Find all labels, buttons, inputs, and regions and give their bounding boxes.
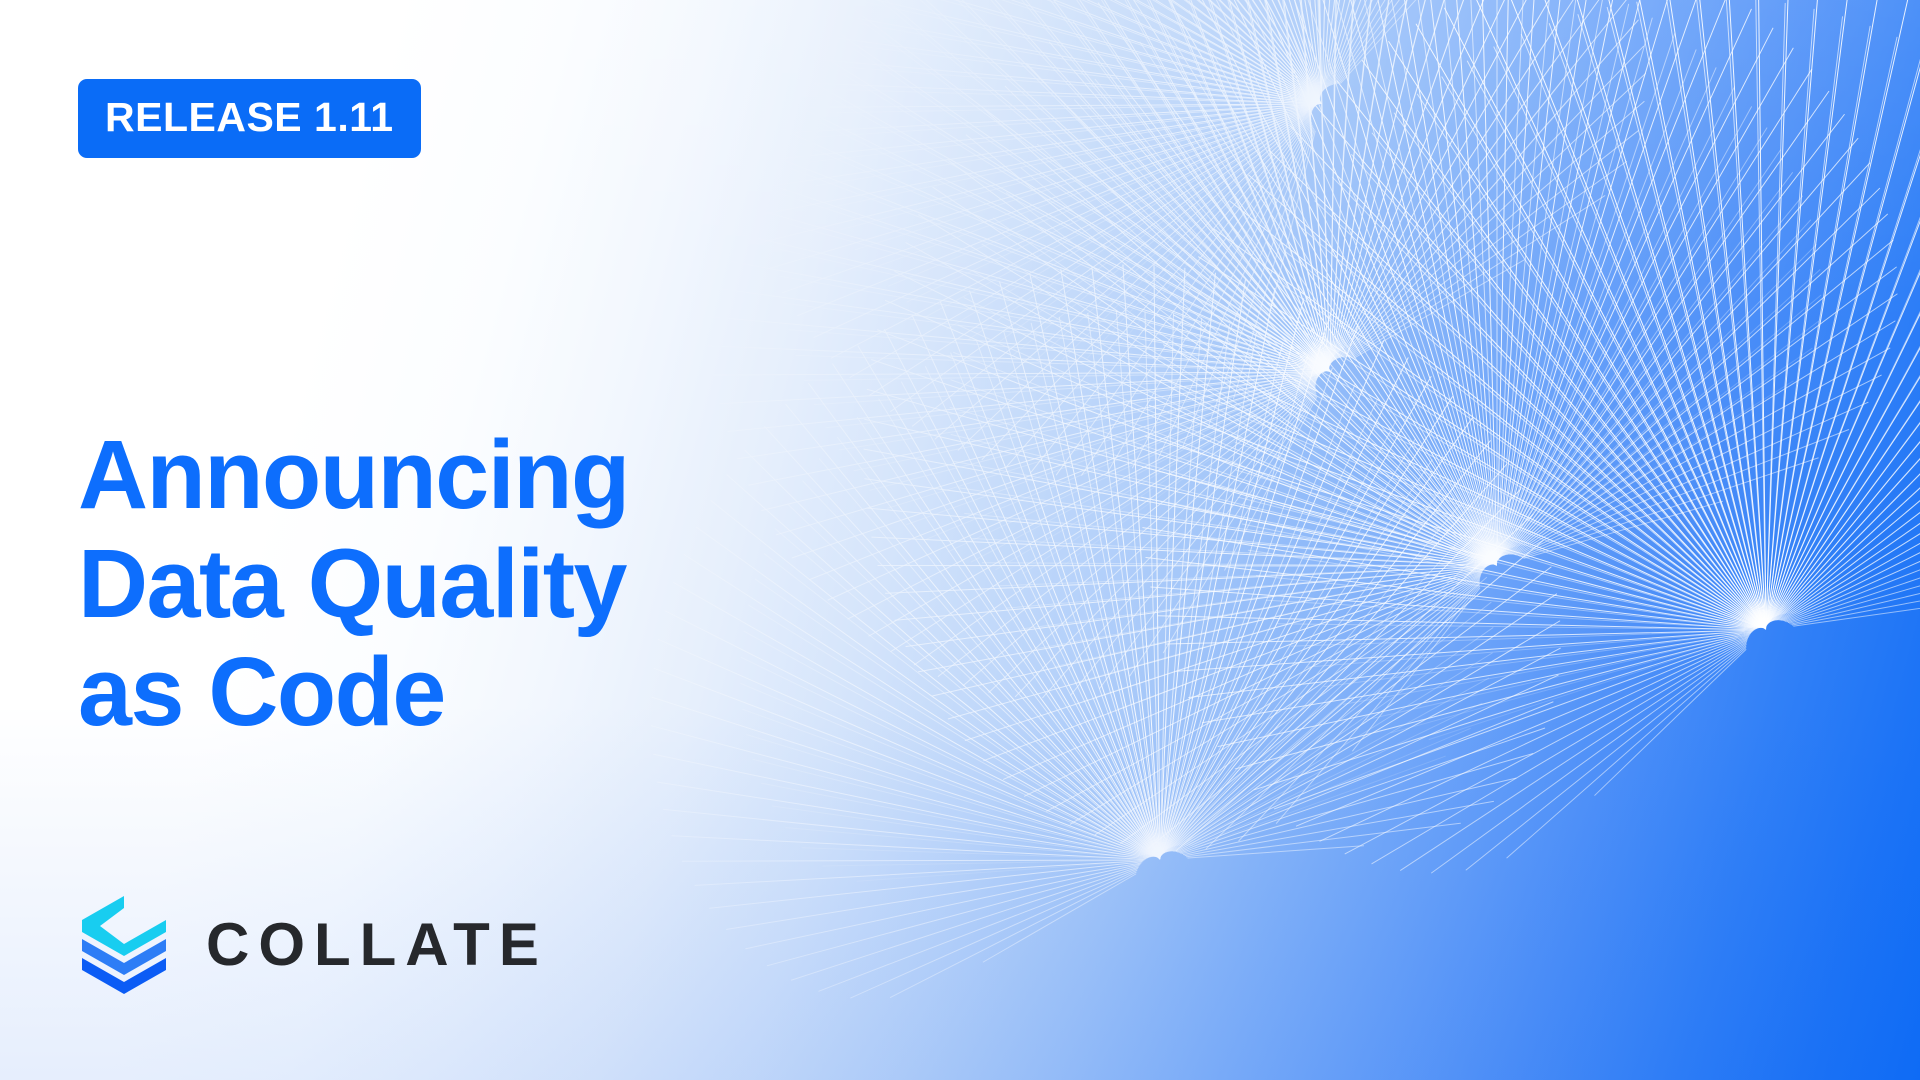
content-column: RELEASE 1.11 Announcing Data Quality as … [0,0,860,1080]
page-title: Announcing Data Quality as Code [78,421,838,747]
headline-line-3: as Code [78,638,838,747]
release-badge: RELEASE 1.11 [78,79,421,158]
release-announcement-banner: RELEASE 1.11 Announcing Data Quality as … [0,0,1920,1080]
collate-wordmark: COLLATE [206,915,548,975]
collate-layers-icon [78,892,170,998]
headline-line-1: Announcing [78,421,838,530]
collate-logo: COLLATE [78,892,548,998]
headline-line-2: Data Quality [78,530,838,639]
